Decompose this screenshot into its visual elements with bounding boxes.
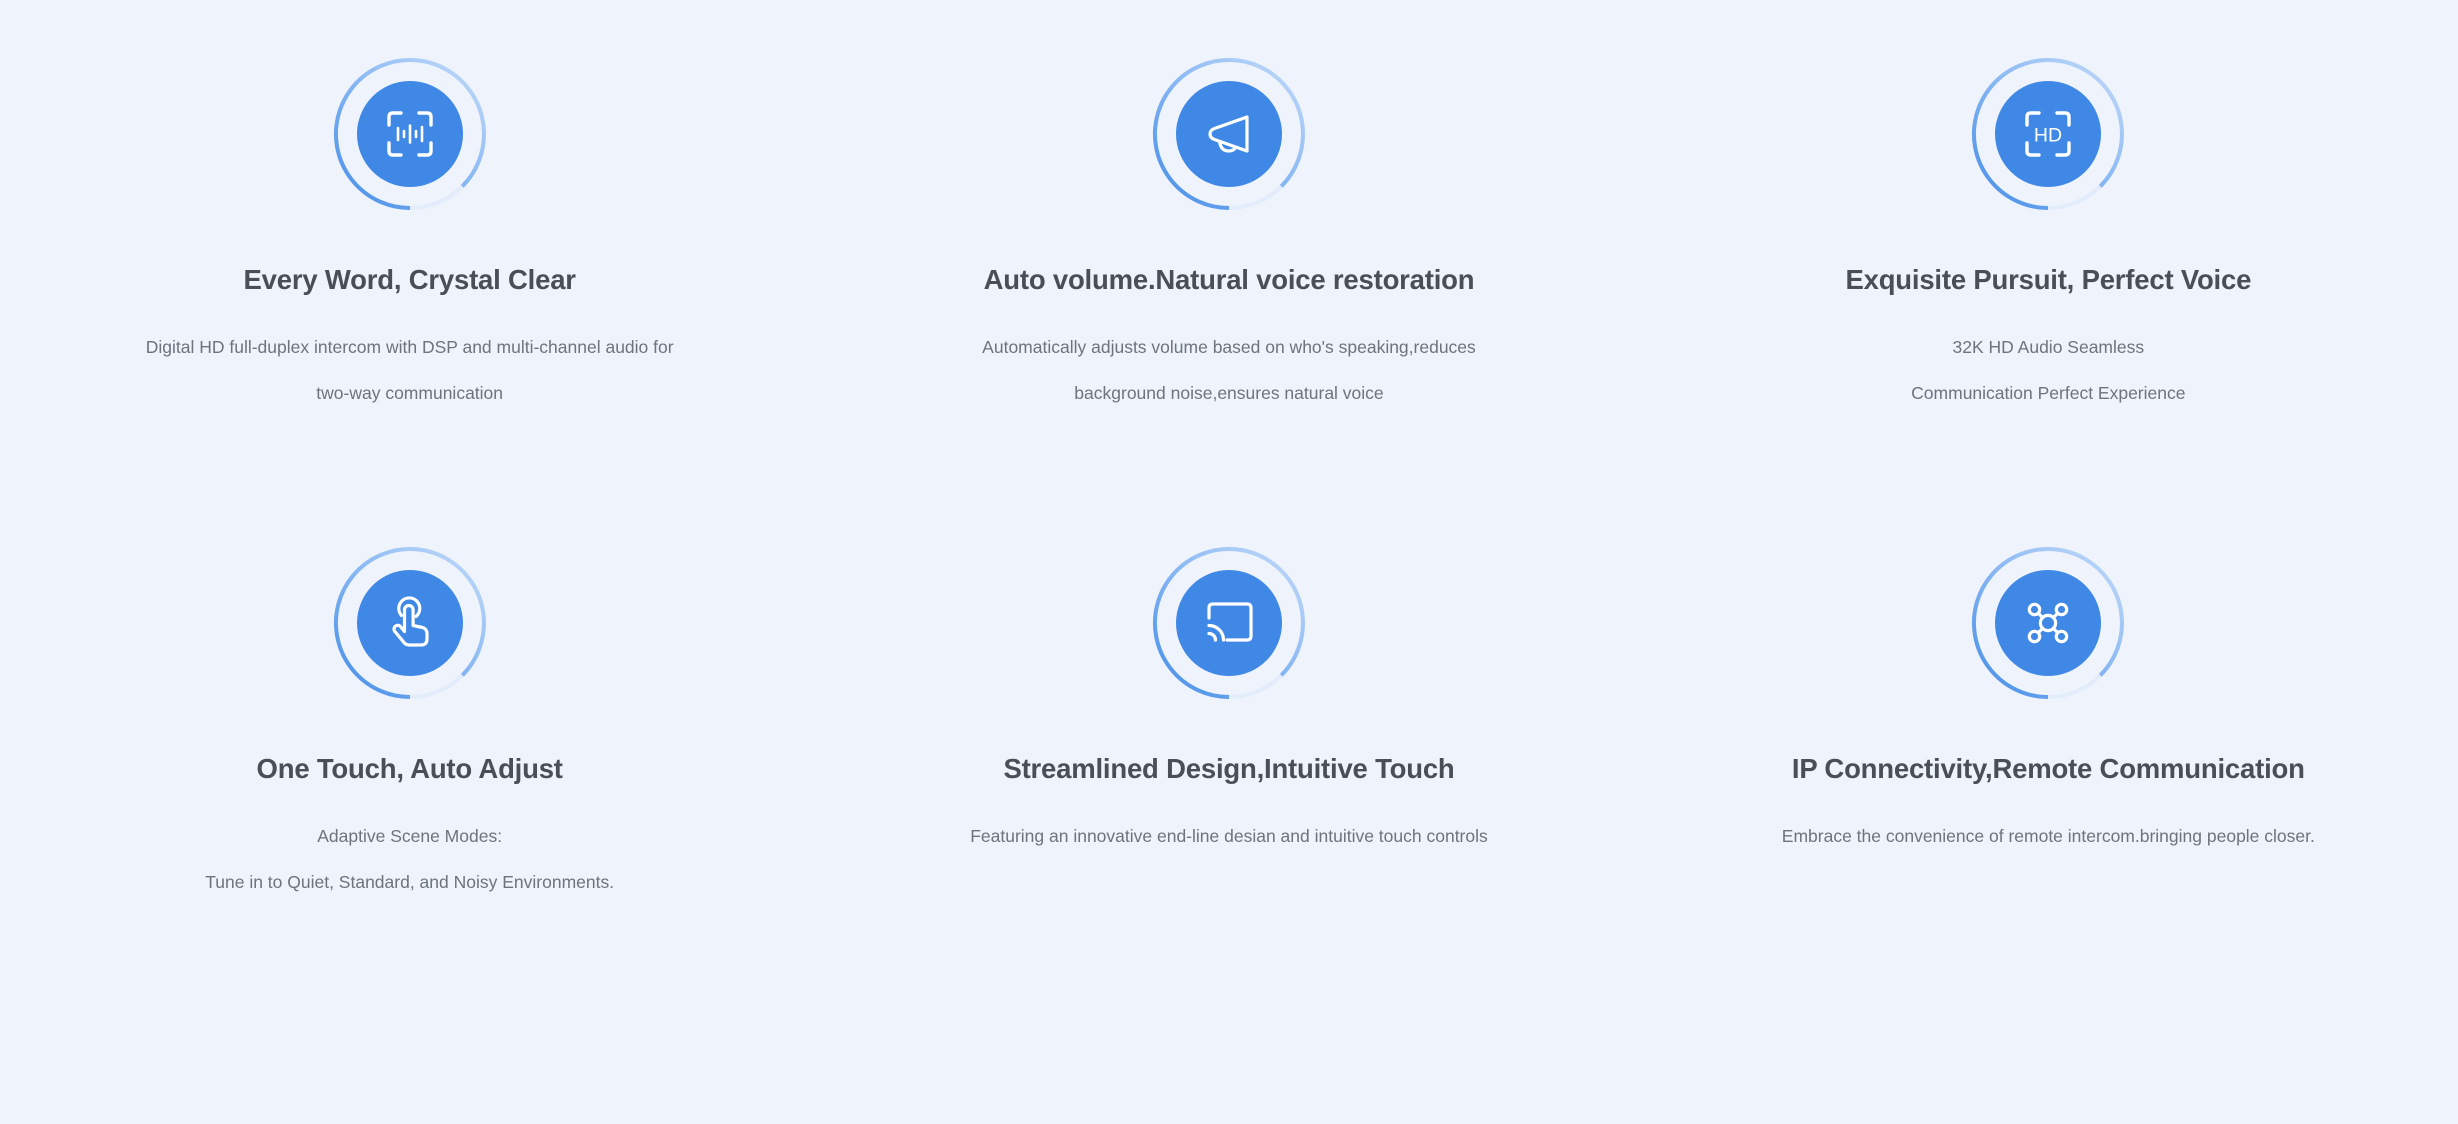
icon-disc xyxy=(1995,570,2101,676)
feature-desc-line-1: Adaptive Scene Modes: xyxy=(205,813,614,859)
megaphone-icon xyxy=(1201,106,1257,162)
feature-card-one-touch-auto-adjust: One Touch, Auto Adjust Adaptive Scene Mo… xyxy=(0,511,819,1000)
feature-desc-line-2: two-way communication xyxy=(146,370,674,416)
icon-badge xyxy=(332,56,488,212)
feature-desc-line-1: Embrace the convenience of remote interc… xyxy=(1782,813,2315,859)
icon-disc xyxy=(1176,570,1282,676)
feature-description: Digital HD full-duplex intercom with DSP… xyxy=(146,324,674,416)
hd-scan-frame-icon: HD xyxy=(2021,107,2075,161)
feature-desc-line-2: background noise,ensures natural voice xyxy=(982,370,1476,416)
feature-title: Streamlined Design,Intuitive Touch xyxy=(1003,755,1454,783)
feature-desc-line-2: Communication Perfect Experience xyxy=(1911,370,2185,416)
feature-title: Auto volume.Natural voice restoration xyxy=(984,266,1475,294)
feature-desc-line-1: Digital HD full-duplex intercom with DSP… xyxy=(146,324,674,370)
feature-description: Embrace the convenience of remote interc… xyxy=(1782,813,2315,859)
icon-disc xyxy=(357,570,463,676)
feature-grid: Every Word, Crystal Clear Digital HD ful… xyxy=(0,0,2458,1124)
feature-title: IP Connectivity,Remote Communication xyxy=(1792,755,2305,783)
feature-desc-line-1: Automatically adjusts volume based on wh… xyxy=(982,324,1476,370)
feature-title: One Touch, Auto Adjust xyxy=(257,755,563,783)
feature-title: Every Word, Crystal Clear xyxy=(244,266,576,294)
hd-label: HD xyxy=(2034,125,2062,147)
feature-card-auto-volume: Auto volume.Natural voice restoration Au… xyxy=(819,22,1638,511)
feature-description: Automatically adjusts volume based on wh… xyxy=(982,324,1476,416)
icon-disc xyxy=(1176,81,1282,187)
feature-desc-line-2: Tune in to Quiet, Standard, and Noisy En… xyxy=(205,859,614,905)
screen-cast-icon xyxy=(1201,598,1257,648)
network-hub-icon xyxy=(2020,595,2076,651)
feature-desc-line-1: 32K HD Audio Seamless xyxy=(1911,324,2185,370)
icon-badge xyxy=(1151,56,1307,212)
feature-card-exquisite-pursuit: HD Exquisite Pursuit, Perfect Voice 32K … xyxy=(1639,22,2458,511)
feature-card-streamlined-design: Streamlined Design,Intuitive Touch Featu… xyxy=(819,511,1638,1000)
feature-desc-line-1: Featuring an innovative end-line desian … xyxy=(970,813,1488,859)
icon-badge xyxy=(1970,545,2126,701)
feature-description: Adaptive Scene Modes: Tune in to Quiet, … xyxy=(205,813,614,905)
feature-description: 32K HD Audio Seamless Communication Perf… xyxy=(1911,324,2185,416)
icon-disc: HD xyxy=(1995,81,2101,187)
scan-audio-waveform-icon xyxy=(383,107,437,161)
feature-title: Exquisite Pursuit, Perfect Voice xyxy=(1845,266,2251,294)
icon-badge xyxy=(1151,545,1307,701)
icon-disc xyxy=(357,81,463,187)
feature-description: Featuring an innovative end-line desian … xyxy=(970,813,1488,859)
feature-card-ip-connectivity: IP Connectivity,Remote Communication Emb… xyxy=(1639,511,2458,1000)
icon-badge: HD xyxy=(1970,56,2126,212)
feature-card-every-word-crystal-clear: Every Word, Crystal Clear Digital HD ful… xyxy=(0,22,819,511)
icon-badge xyxy=(332,545,488,701)
touch-gesture-icon xyxy=(383,595,437,651)
